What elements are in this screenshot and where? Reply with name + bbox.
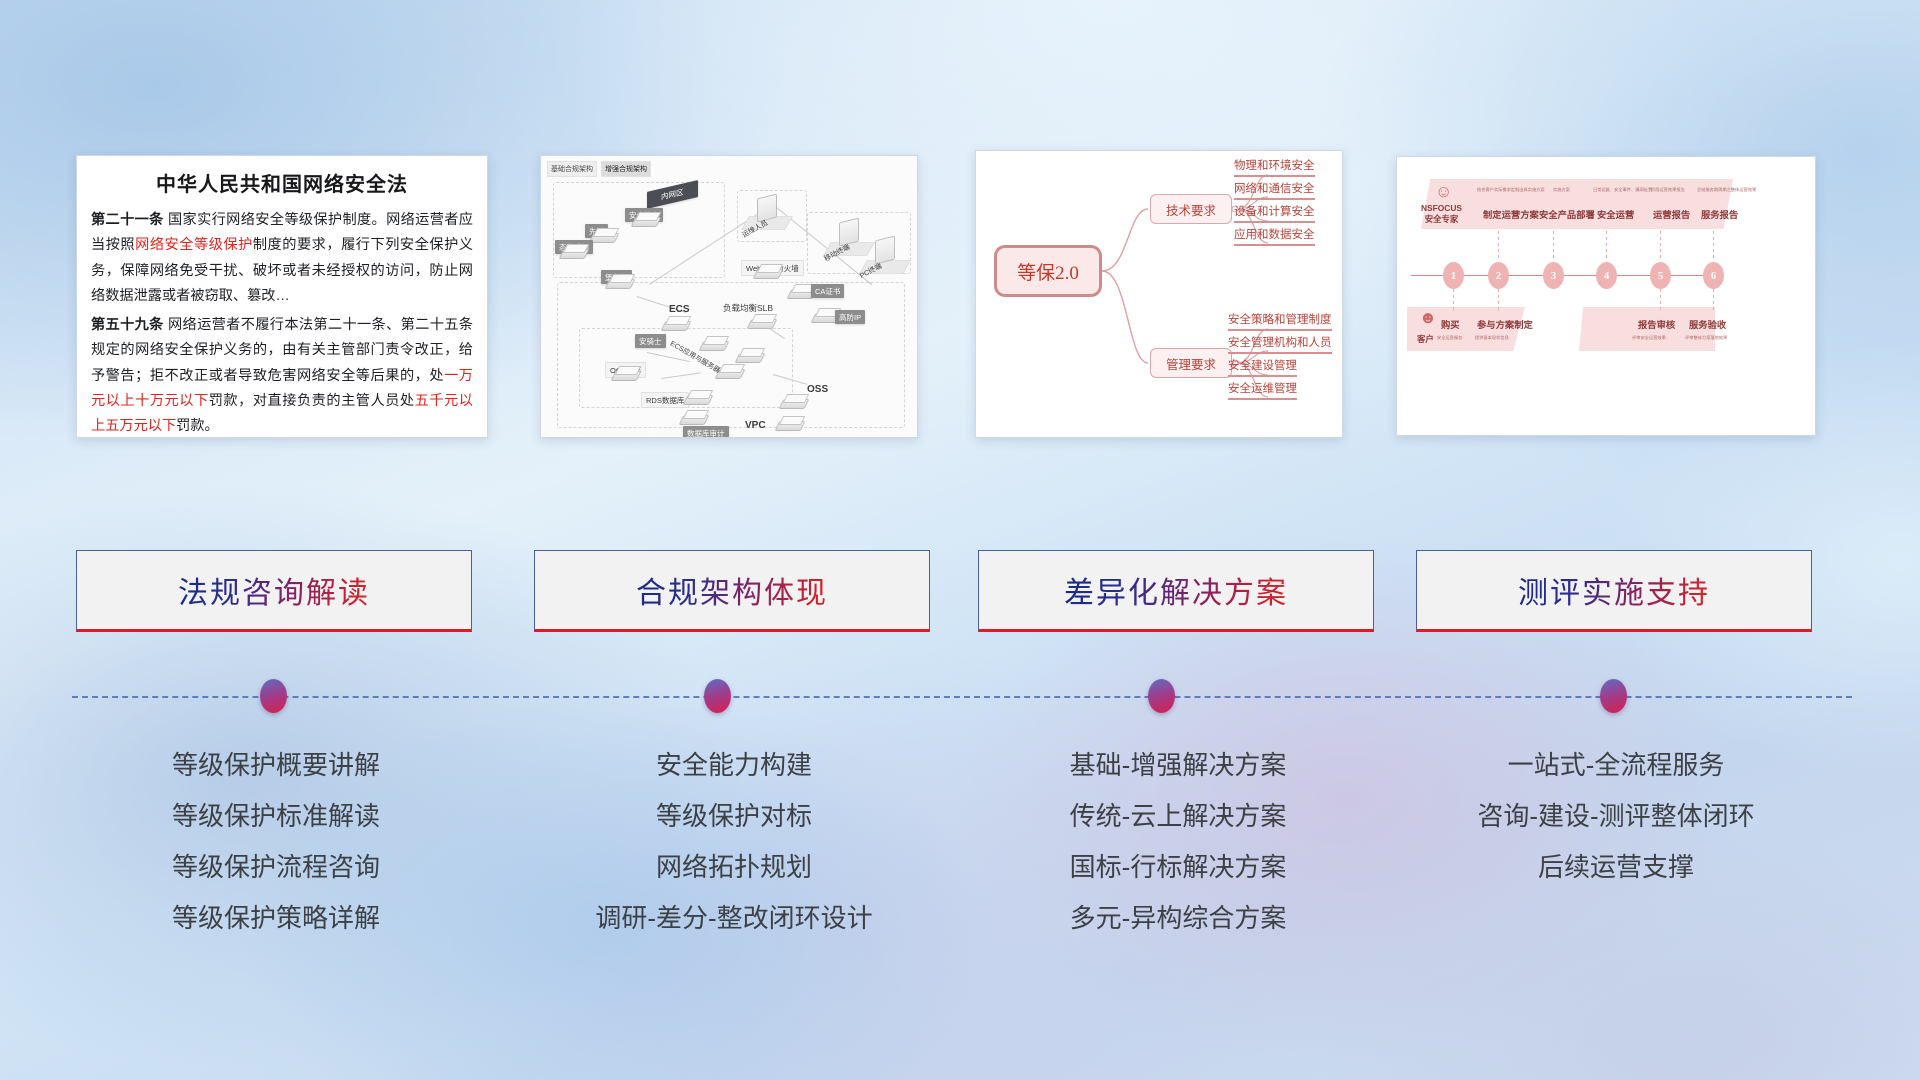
nsfocus-expert-band: [1421, 179, 1733, 229]
node-situation-awareness: 态势感知: [555, 240, 587, 261]
mindmap-root: 等保2.0: [994, 245, 1102, 297]
label-ca-cert: CA证书: [811, 284, 844, 298]
nsfocus-connector: [1660, 289, 1661, 311]
law-article-59: 第五十九条 网络运营者不履行本法第二十一条、第二十五条规定的网络安全保护义务的，…: [91, 313, 473, 438]
list-item: 调研-差分-整改闭环设计: [534, 905, 934, 931]
list-item: 后续运营支撑: [1416, 854, 1816, 880]
section-heading-box-2[interactable]: 合规架构体现: [534, 550, 930, 632]
label-ecs: ECS: [669, 304, 690, 315]
section-items-3: 基础-增强解决方案 传统-云上解决方案 国标-行标解决方案 多元-异构综合方案: [978, 752, 1378, 956]
node-ecs-1: [663, 316, 689, 333]
list-item: 等级保护标准解读: [76, 803, 476, 829]
nsfocus-connector: [1498, 289, 1499, 311]
list-item: 等级保护对标: [534, 803, 934, 829]
nsfocus-step: 5: [1650, 262, 1671, 289]
law-title: 中华人民共和国网络安全法: [91, 168, 473, 197]
nsfocus-bottom-title: 参与方案制定: [1477, 317, 1533, 331]
node-vpc: VPC: [777, 416, 803, 433]
section-items-2: 安全能力构建 等级保护对标 网络拓扑规划 调研-差分-整改闭环设计: [534, 752, 934, 956]
nsfocus-top-sub: 总结服务期周期之整体运营效果: [1697, 187, 1756, 193]
mindmap-branch-technical: 技术要求: [1150, 194, 1232, 224]
nsfocus-connector: [1606, 231, 1607, 261]
card-mindmap-dengbao: 等保2.0 技术要求 管理要求 物理和环境安全 网络和通信安全 设备和计算安全 …: [975, 150, 1343, 438]
nsfocus-connector: [1498, 231, 1499, 261]
zone-security-ops: [553, 182, 725, 278]
nsfocus-customer-role: 客户: [1417, 333, 1434, 345]
nsfocus-bottom-title: 服务验收: [1689, 317, 1726, 331]
timeline-marker-3: [1148, 679, 1175, 713]
mindmap-leaf: 设备和计算安全: [1234, 205, 1315, 223]
expert-avatar-icon: ☺: [1435, 183, 1452, 200]
law-article-21: 第二十一条 国家实行网络安全等级保护制度。网络运营者应当按照网络安全等级保护制度…: [91, 208, 473, 309]
mindmap-leaf: 安全建设管理: [1228, 359, 1297, 377]
list-item: 等级保护策略详解: [76, 905, 476, 931]
nsfocus-connector: [1553, 231, 1554, 261]
customer-avatar-icon: ☻: [1419, 309, 1437, 326]
card-cybersecurity-law: 中华人民共和国网络安全法 第二十一条 国家实行网络安全等级保护制度。网络运营者应…: [76, 155, 488, 438]
node-anti-ddos-ip: 高防IP: [813, 308, 839, 325]
node-slb: [749, 314, 775, 331]
nsfocus-top-title: 服务报告: [1701, 207, 1738, 221]
timeline-dashed-line: [72, 696, 1852, 698]
nsfocus-top-sub: 结合客户实际需求定制出具实施方案: [1477, 187, 1545, 193]
nsfocus-bottom-title: 购买: [1441, 317, 1460, 331]
label-db-audit: 数据库审计: [683, 426, 729, 438]
law-article-59-text-c: 罚款。: [176, 418, 219, 434]
nsfocus-step: 2: [1488, 262, 1509, 289]
list-item: 多元-异构综合方案: [978, 905, 1378, 931]
label-rds: RDS数据库: [641, 392, 689, 408]
law-article-59-text-b: 罚款，对直接负责的主管人员处: [209, 393, 415, 409]
list-item: 一站式-全流程服务: [1416, 752, 1816, 778]
law-article-59-label: 第五十九条: [91, 317, 164, 333]
node-db-audit: 数据库审计: [681, 410, 707, 427]
architecture-tab-basic[interactable]: 基础合规架构: [547, 161, 597, 177]
node-oss: OSS: [781, 394, 807, 411]
nsfocus-bottom-sub: 安全运营服务: [1437, 335, 1462, 341]
nsfocus-top-title: 安全运营: [1597, 207, 1634, 221]
mindmap-leaf: 物理和环境安全: [1234, 159, 1315, 177]
node-waf: Web应用防火墙: [741, 260, 781, 281]
nsfocus-step: 3: [1543, 262, 1564, 289]
nsfocus-step: 4: [1596, 262, 1617, 289]
nsfocus-top-title: 制定运营方案: [1483, 207, 1539, 221]
nsfocus-bottom-sub: 评审整体方案落地效果: [1685, 335, 1727, 341]
node-security-butler: 安全管家: [625, 208, 659, 229]
timeline-marker-2: [704, 679, 731, 713]
card-nsfocus-service-flow: ☺ NSFOCUS安全专家 ☻ 客户 结合客户实际需求定制出具实施方案 制定运营…: [1396, 156, 1816, 436]
section-items-1: 等级保护概要讲解 等级保护标准解读 等级保护流程咨询 等级保护策略详解: [76, 752, 476, 956]
nsfocus-top-sub: 阶段运营效果报告: [1651, 187, 1685, 193]
label-anti-ddos-ip: 高防IP: [835, 310, 865, 324]
mindmap-leaf: 安全管理机构和人员: [1228, 336, 1332, 354]
list-item: 安全能力构建: [534, 752, 934, 778]
section-heading-box-1[interactable]: 法规咨询解读: [76, 550, 472, 632]
timeline-marker-4: [1600, 679, 1627, 713]
list-item: 等级保护概要讲解: [76, 752, 476, 778]
nsfocus-top-sub: 日常运维、安全事件、漏洞处置: [1593, 187, 1652, 193]
law-article-21-label: 第二十一条: [91, 212, 164, 228]
nsfocus-connector: [1453, 289, 1454, 311]
nsfocus-top-title: 运营报告: [1653, 207, 1690, 221]
list-item: 网络拓扑规划: [534, 854, 934, 880]
architecture-tabs: 基础合规架构 增强合规架构: [547, 161, 651, 177]
label-anqishi: 安骑士: [635, 334, 666, 348]
mindmap-branch-management: 管理要求: [1150, 348, 1232, 378]
mindmap-leaf: 安全运维管理: [1228, 382, 1297, 400]
label-slb: 负载均衡SLB: [723, 302, 773, 314]
nsfocus-connector: [1713, 289, 1714, 311]
mindmap-leaf: 网络和通信安全: [1234, 182, 1315, 200]
nsfocus-step: 6: [1703, 262, 1724, 289]
nsfocus-bottom-title: 报告审核: [1638, 317, 1675, 331]
card-cloud-architecture: 基础合规架构 增强合规架构 内网区 安全管家 先知 态势感知: [540, 155, 918, 438]
section-heading-label: 测评实施支持: [1518, 568, 1710, 612]
section-heading-box-4[interactable]: 测评实施支持: [1416, 550, 1812, 632]
mindmap-leaf: 安全策略和管理制度: [1228, 313, 1332, 331]
node-bastion-host: 堡垒机: [601, 270, 633, 291]
list-item: 基础-增强解决方案: [978, 752, 1378, 778]
node-ecs-3: [737, 348, 763, 365]
nsfocus-top-sub: 实施方案: [1553, 187, 1570, 193]
section-items-4: 一站式-全流程服务 咨询-建设-测评整体闭环 后续运营支撑: [1416, 752, 1816, 905]
nsfocus-bottom-sub: 提供基本现状信息: [1475, 335, 1509, 341]
list-item: 咨询-建设-测评整体闭环: [1416, 803, 1816, 829]
section-heading-label: 法规咨询解读: [178, 568, 370, 612]
nsfocus-top-title: 安全产品部署: [1539, 207, 1595, 221]
nsfocus-expert-role: NSFOCUS安全专家: [1421, 203, 1462, 224]
list-item: 国标-行标解决方案: [978, 854, 1378, 880]
law-article-21-highlight: 网络安全等级保护: [135, 237, 253, 253]
nsfocus-bottom-sub: 评审安全运营效果: [1632, 335, 1666, 341]
nsfocus-connector: [1660, 231, 1661, 261]
node-ocs-cache: OCS缓存: [605, 362, 639, 383]
list-item: 传统-云上解决方案: [978, 803, 1378, 829]
architecture-tab-enhanced[interactable]: 增强合规架构: [601, 161, 651, 177]
nsfocus-step: 1: [1443, 262, 1464, 289]
mindmap-leaf: 应用和数据安全: [1234, 228, 1315, 246]
label-oss: OSS: [807, 384, 828, 395]
section-heading-label: 合规架构体现: [636, 568, 828, 612]
nsfocus-connector: [1713, 231, 1714, 261]
section-heading-label: 差异化解决方案: [1064, 568, 1288, 612]
node-ecs-2: [701, 336, 727, 353]
section-heading-box-3[interactable]: 差异化解决方案: [978, 550, 1374, 632]
label-vpc: VPC: [745, 420, 766, 431]
timeline-marker-1: [260, 679, 287, 713]
node-ca-cert: CA证书: [789, 284, 815, 301]
list-item: 等级保护流程咨询: [76, 854, 476, 880]
